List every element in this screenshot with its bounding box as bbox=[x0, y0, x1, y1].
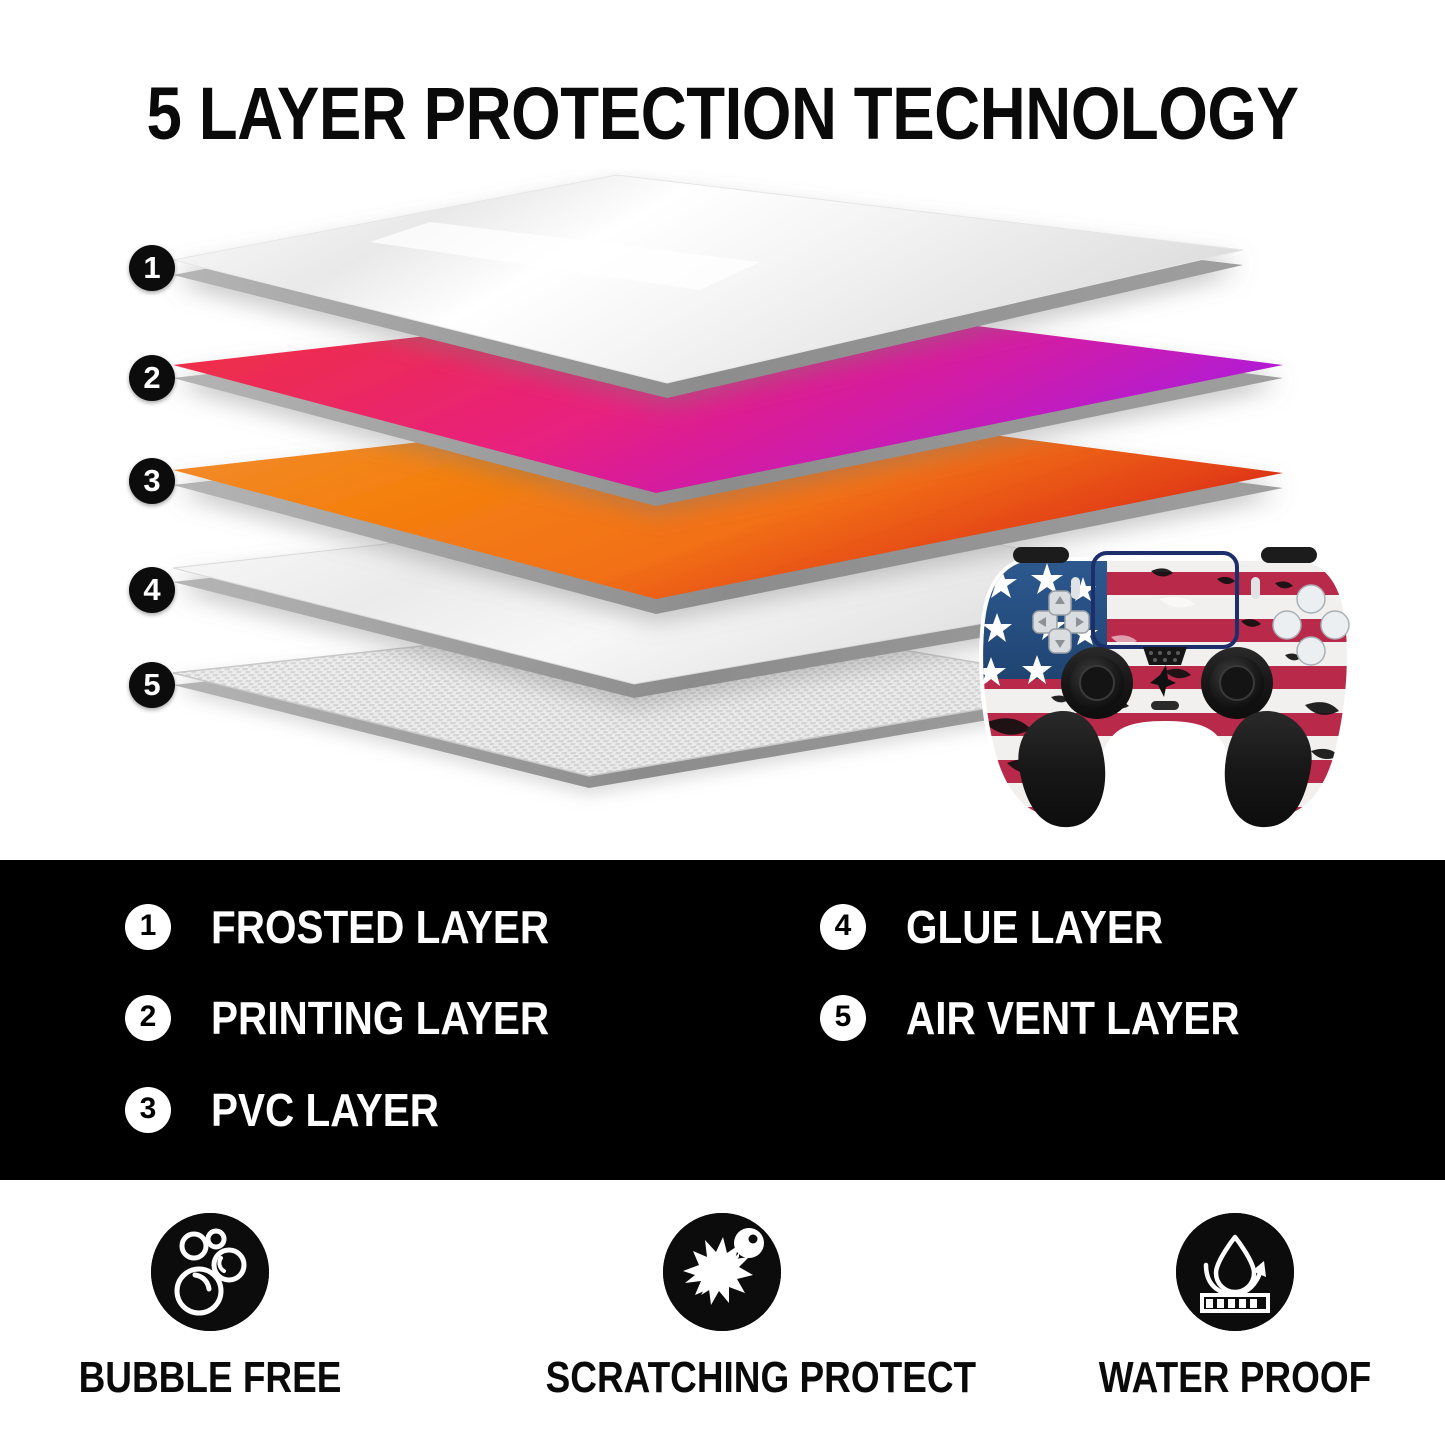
legend-circle-5-number: 5 bbox=[835, 1002, 852, 1032]
key-scratch-icon bbox=[663, 1213, 781, 1331]
legend-circle-2: 2 bbox=[125, 995, 171, 1041]
feature-label-water-proof: WATER PROOF bbox=[1059, 1355, 1412, 1401]
legend-label-frosted-layer: FROSTED LAYER bbox=[211, 904, 549, 950]
legend-circle-3: 3 bbox=[125, 1087, 171, 1133]
r1-shoulder-button bbox=[1261, 547, 1317, 563]
diagram-badge-1: 1 bbox=[129, 245, 175, 291]
legend-circle-3-number: 3 bbox=[140, 1094, 157, 1124]
diagram-badge-2-label: 2 bbox=[143, 362, 160, 393]
legend-item-1: 1 FROSTED LAYER bbox=[125, 904, 595, 950]
feature-label-bubble-free: BUBBLE FREE bbox=[34, 1355, 387, 1401]
legend-item-4: 4 GLUE LAYER bbox=[820, 904, 1198, 950]
options-button bbox=[1251, 577, 1260, 599]
page-title: 5 LAYER PROTECTION TECHNOLOGY bbox=[101, 74, 1344, 154]
legend-column-right: 4 GLUE LAYER 5 AIR VENT LAYER bbox=[820, 860, 1420, 1180]
diagram-badge-3: 3 bbox=[129, 458, 175, 504]
legend-item-5: 5 AIR VENT LAYER bbox=[820, 995, 1285, 1041]
diagram-badge-5-label: 5 bbox=[143, 669, 160, 700]
feature-bubble-free: BUBBLE FREE bbox=[0, 1195, 420, 1401]
ps5-controller-image bbox=[955, 525, 1375, 845]
feature-row: BUBBLE FREE SCRATCHING PROTECT bbox=[0, 1195, 1445, 1445]
diagram-badge-4-label: 4 bbox=[143, 574, 160, 605]
controller-touchpad bbox=[1093, 549, 1241, 649]
legend-circle-5: 5 bbox=[820, 995, 866, 1041]
diagram-badge-2: 2 bbox=[129, 355, 175, 401]
legend-item-3: 3 PVC LAYER bbox=[125, 1087, 470, 1133]
diagram-badge-5: 5 bbox=[129, 662, 175, 708]
legend-circle-2-number: 2 bbox=[140, 1002, 157, 1032]
l1-shoulder-button bbox=[1013, 547, 1069, 563]
diagram-badge-3-label: 3 bbox=[143, 465, 160, 496]
legend-bar: 1 FROSTED LAYER 2 PRINTING LAYER 3 PVC L… bbox=[0, 860, 1445, 1180]
legend-label-printing-layer: PRINTING LAYER bbox=[211, 995, 549, 1041]
left-analog-stick bbox=[1061, 647, 1133, 719]
water-droplet-repel-icon bbox=[1176, 1213, 1294, 1331]
legend-item-2: 2 PRINTING LAYER bbox=[125, 995, 595, 1041]
legend-circle-4: 4 bbox=[820, 904, 866, 950]
legend-column-left: 1 FROSTED LAYER 2 PRINTING LAYER 3 PVC L… bbox=[125, 860, 765, 1180]
diagram-badge-4: 4 bbox=[129, 567, 175, 613]
legend-label-glue-layer: GLUE LAYER bbox=[906, 904, 1163, 950]
legend-circle-4-number: 4 bbox=[835, 911, 852, 941]
legend-circle-1: 1 bbox=[125, 904, 171, 950]
legend-label-pvc-layer: PVC LAYER bbox=[211, 1087, 439, 1133]
feature-label-scratching-protect: SCRATCHING PROTECT bbox=[546, 1355, 899, 1401]
right-analog-stick bbox=[1201, 647, 1273, 719]
legend-circle-1-number: 1 bbox=[140, 911, 157, 941]
legend-label-air-vent-layer: AIR VENT LAYER bbox=[906, 995, 1240, 1041]
bubbles-icon bbox=[151, 1213, 269, 1331]
feature-scratching-protect: SCRATCHING PROTECT bbox=[512, 1195, 932, 1401]
create-button bbox=[1071, 577, 1080, 599]
feature-water-proof: WATER PROOF bbox=[1025, 1195, 1445, 1401]
speaker-grill bbox=[1143, 647, 1187, 665]
diagram-badge-1-label: 1 bbox=[143, 252, 160, 283]
mic-mute-button bbox=[1151, 701, 1179, 710]
